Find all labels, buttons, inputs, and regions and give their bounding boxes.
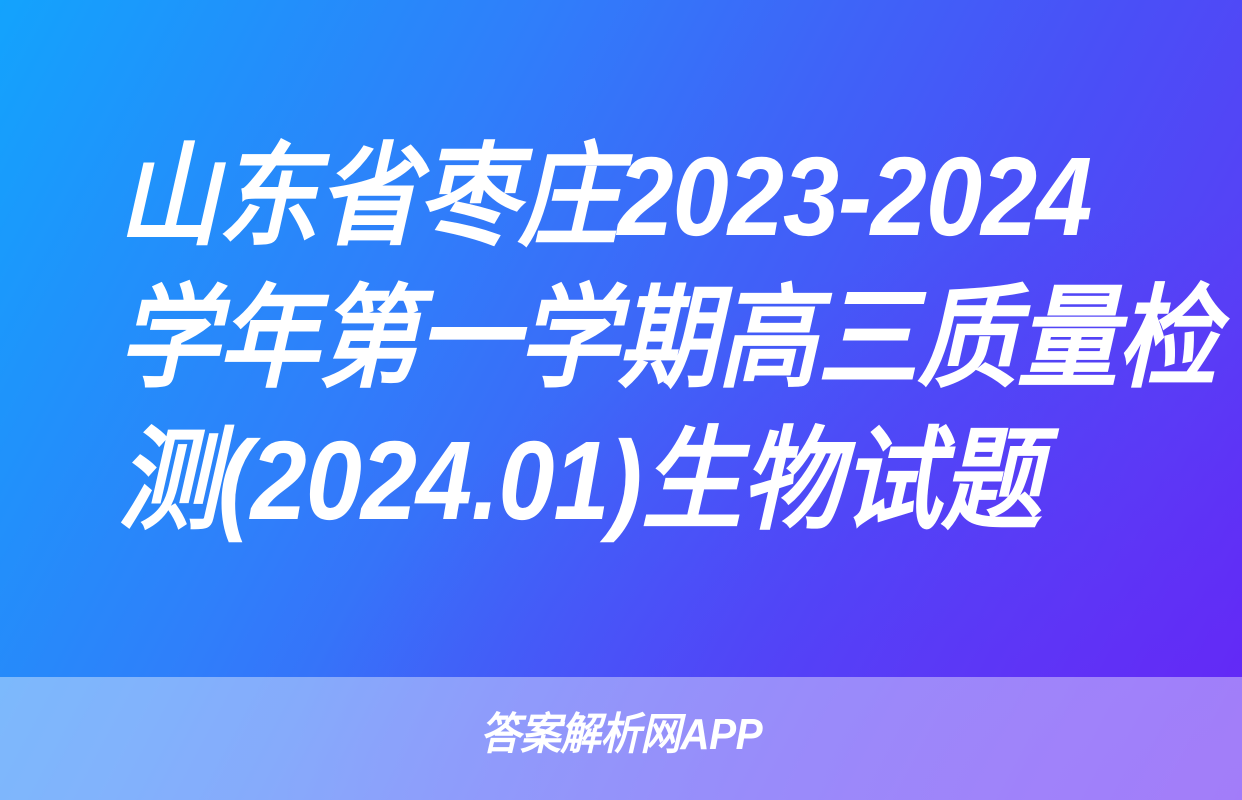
title-line-3: 测(2024.01)生物试题: [118, 410, 1023, 552]
footer-brand-band: 答案解析网APP: [0, 677, 1242, 800]
title-line-1: 山东省枣庄2023-2024: [118, 126, 1023, 268]
title-line-2: 学年第一学期高三质量检: [118, 268, 1023, 410]
brand-watermark: 答案解析网APP: [480, 710, 762, 760]
cover-card: 山东省枣庄2023-2024 学年第一学期高三质量检 测(2024.01)生物试…: [0, 0, 1242, 800]
title-block: 山东省枣庄2023-2024 学年第一学期高三质量检 测(2024.01)生物试…: [0, 0, 1242, 677]
